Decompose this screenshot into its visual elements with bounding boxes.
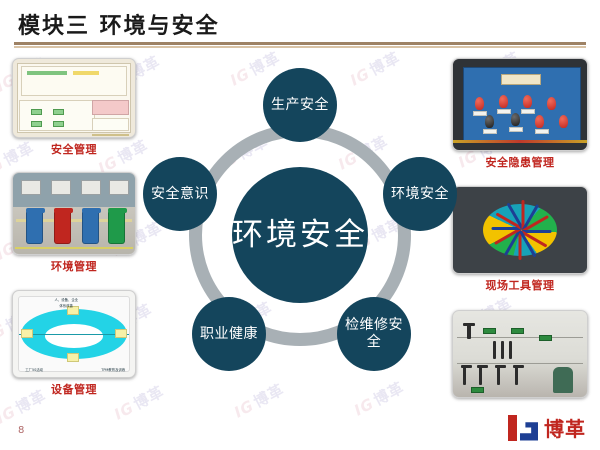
title-rule-dark	[14, 42, 586, 45]
left-card-3[interactable]: 人、设备、企业 体系改善 工厂5S活动 TPM教育及训练 设备管理	[12, 290, 136, 397]
brand-logo-icon	[508, 415, 538, 441]
brand-logo: 博革	[508, 413, 586, 442]
right-card-3[interactable]	[452, 310, 588, 401]
tool-wall-photo	[452, 310, 588, 398]
diagram-node-left[interactable]: 安全意识	[143, 157, 217, 231]
right-card-2-caption: 现场工具管理	[452, 277, 588, 293]
radial-tool-board-photo	[452, 186, 588, 274]
diagram-node-bottom-left[interactable]: 职业健康	[192, 297, 266, 371]
page-title: 模块三 环境与安全	[18, 8, 220, 40]
diagram-node-right-label: 环境安全	[391, 186, 449, 203]
left-card-3-caption: 设备管理	[12, 381, 136, 397]
diagram-node-top-label: 生产安全	[271, 97, 329, 114]
title-rule-light	[14, 46, 586, 48]
diagram-node-bottom-right-label: 检维修安全	[342, 317, 406, 351]
safety-management-board-photo	[12, 58, 136, 138]
left-card-1[interactable]: 安全管理	[12, 58, 136, 157]
recycling-bins-photo	[12, 172, 136, 255]
tpm-equipment-diagram-photo: 人、设备、企业 体系改善 工厂5S活动 TPM教育及训练	[12, 290, 136, 378]
brand-logo-text: 博革	[544, 413, 586, 442]
diagram-node-bottom-right[interactable]: 检维修安全	[337, 297, 411, 371]
diagram-node-top[interactable]: 生产安全	[263, 68, 337, 142]
page-number: 8	[18, 425, 24, 436]
diagram-node-bottom-left-label: 职业健康	[200, 326, 258, 343]
diagram-center-hub[interactable]: 环境安全	[232, 167, 368, 303]
right-card-1-caption: 安全隐患管理	[452, 154, 588, 170]
cycle-diagram: 生产安全 环境安全 检维修安全 职业健康 安全意识 环境安全	[130, 65, 470, 405]
left-card-2[interactable]: 环境管理	[12, 172, 136, 274]
diagram-node-right[interactable]: 环境安全	[383, 157, 457, 231]
slide-canvas: 模块三 环境与安全 安全管理	[0, 0, 600, 450]
right-card-2[interactable]: 现场工具管理	[452, 186, 588, 293]
left-card-1-caption: 安全管理	[12, 141, 136, 157]
diagram-node-left-label: 安全意识	[151, 186, 209, 203]
diagram-center-label: 环境安全	[232, 218, 368, 253]
right-card-1[interactable]: 安全隐患管理	[452, 58, 588, 170]
left-card-2-caption: 环境管理	[12, 258, 136, 274]
emergency-switch-panel-photo	[452, 58, 588, 151]
